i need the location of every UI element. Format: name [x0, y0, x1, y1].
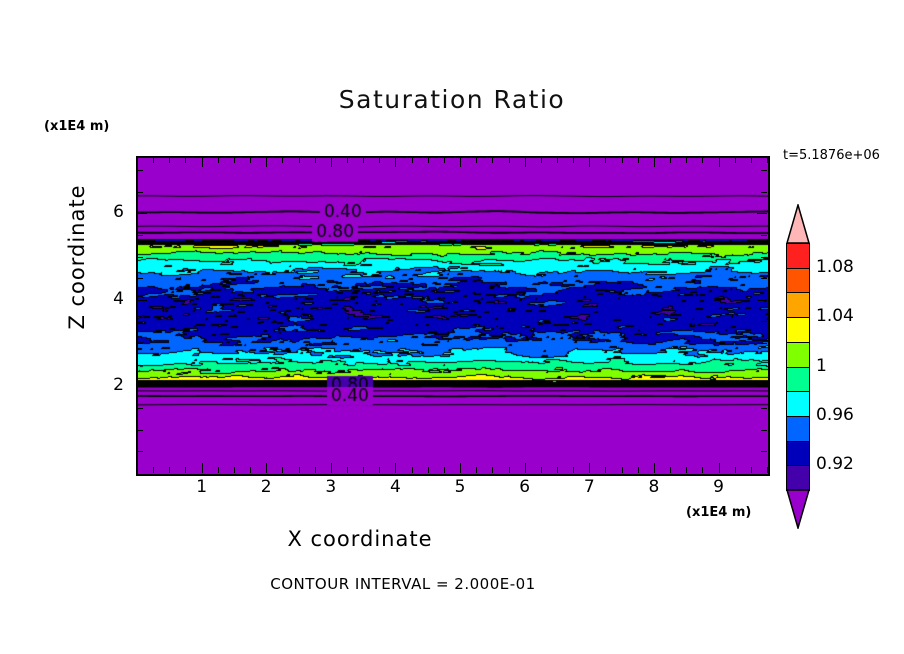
axis-tick	[153, 467, 154, 473]
axis-tick	[761, 170, 767, 171]
axis-tick	[767, 157, 768, 163]
axis-tick	[476, 467, 477, 473]
axis-tick	[234, 467, 235, 473]
axis-tick	[185, 467, 186, 473]
axis-tick	[331, 463, 332, 473]
axis-tick	[137, 213, 147, 214]
axis-tick	[638, 157, 639, 163]
axis-tick	[250, 157, 251, 163]
axis-tick	[541, 157, 542, 163]
axis-tick	[379, 157, 380, 163]
axis-tick	[363, 467, 364, 473]
axis-tick	[492, 467, 493, 473]
axis-tick	[299, 157, 300, 163]
axis-tick	[761, 278, 767, 279]
axis-tick	[169, 467, 170, 473]
colorbar-segment	[786, 243, 810, 269]
axis-tick	[557, 157, 558, 163]
axis-tick	[315, 157, 316, 163]
axis-tick	[137, 408, 143, 409]
colorbar-tick-label: 0.96	[816, 405, 854, 425]
axis-tick	[363, 157, 364, 163]
axis-tick	[492, 157, 493, 163]
contour-plot-area	[136, 156, 770, 476]
axis-tick	[670, 157, 671, 163]
axis-tick	[137, 235, 143, 236]
axis-tick	[757, 213, 767, 214]
axis-tick	[137, 257, 143, 258]
axis-tick	[622, 157, 623, 163]
axis-tick	[137, 170, 143, 171]
contour-interval-note: CONTOUR INTERVAL = 2.000E-01	[0, 575, 855, 593]
colorbar-segment	[786, 367, 810, 393]
axis-tick	[702, 467, 703, 473]
x-tick-label: 1	[187, 477, 217, 497]
axis-tick	[412, 157, 413, 163]
axis-tick	[476, 157, 477, 163]
axis-tick	[761, 257, 767, 258]
axis-tick	[767, 467, 768, 473]
x-tick-label: 8	[639, 477, 669, 497]
axis-tick	[719, 463, 720, 473]
axis-tick	[761, 343, 767, 344]
axis-tick	[395, 157, 396, 167]
axis-tick	[589, 157, 590, 167]
x-tick-label: 9	[704, 477, 734, 497]
colorbar-over-arrow	[786, 204, 810, 244]
axis-tick	[509, 467, 510, 473]
axis-tick	[137, 300, 147, 301]
axis-tick	[202, 463, 203, 473]
axis-tick	[757, 386, 767, 387]
axis-tick	[137, 278, 143, 279]
axis-tick	[444, 467, 445, 473]
axis-tick	[137, 192, 143, 193]
axis-tick	[761, 408, 767, 409]
x-tick-label: 3	[316, 477, 346, 497]
axis-tick	[622, 467, 623, 473]
y-tick-label: 6	[94, 202, 124, 222]
axis-tick	[525, 463, 526, 473]
colorbar-segment	[786, 465, 810, 491]
axis-tick	[638, 467, 639, 473]
axis-tick	[761, 321, 767, 322]
axis-tick	[761, 430, 767, 431]
axis-tick	[137, 343, 143, 344]
axis-tick	[299, 467, 300, 473]
axis-tick	[761, 451, 767, 452]
axis-tick	[654, 157, 655, 167]
axis-tick	[137, 430, 143, 431]
colorbar-segment	[786, 416, 810, 442]
axis-tick	[137, 451, 143, 452]
axis-tick	[751, 157, 752, 163]
axis-tick	[735, 467, 736, 473]
x-tick-label: 7	[574, 477, 604, 497]
axis-tick	[250, 467, 251, 473]
y-tick-label: 4	[94, 289, 124, 309]
axis-tick	[719, 157, 720, 167]
colorbar-segment	[786, 342, 810, 368]
axis-tick	[751, 467, 752, 473]
axis-tick	[761, 235, 767, 236]
colorbar-segment	[786, 292, 810, 318]
colorbar-tick-label: 1.04	[816, 306, 854, 326]
colorbar-segment	[786, 317, 810, 343]
axis-tick	[460, 157, 461, 167]
axis-tick	[169, 157, 170, 163]
axis-tick	[757, 300, 767, 301]
axis-tick	[234, 157, 235, 163]
axis-tick	[347, 157, 348, 163]
y-axis-unit-label: (x1E4 m)	[44, 119, 109, 134]
axis-tick	[137, 321, 143, 322]
axis-tick	[761, 365, 767, 366]
colorbar-under-arrow	[786, 489, 810, 529]
axis-tick	[412, 467, 413, 473]
axis-tick	[573, 157, 574, 163]
axis-tick	[605, 157, 606, 163]
axis-tick	[654, 463, 655, 473]
axis-tick	[428, 157, 429, 163]
x-axis-unit-label: (x1E4 m)	[686, 505, 751, 520]
axis-tick	[573, 467, 574, 473]
axis-tick	[525, 157, 526, 167]
page-title: Saturation Ratio	[0, 85, 904, 114]
axis-tick	[153, 157, 154, 163]
axis-tick	[347, 467, 348, 473]
colorbar-segment	[786, 268, 810, 294]
x-tick-label: 6	[510, 477, 540, 497]
axis-tick	[137, 386, 147, 387]
colorbar-tick-label: 0.92	[816, 454, 854, 474]
colorbar-segment	[786, 441, 810, 467]
colorbar-segment	[786, 391, 810, 417]
x-tick-label: 4	[380, 477, 410, 497]
axis-tick	[266, 463, 267, 473]
axis-tick	[185, 157, 186, 163]
axis-tick	[761, 192, 767, 193]
axis-tick	[395, 463, 396, 473]
axis-tick	[702, 157, 703, 163]
x-tick-label: 2	[251, 477, 281, 497]
axis-tick	[218, 157, 219, 163]
axis-tick	[670, 467, 671, 473]
colorbar	[786, 243, 810, 490]
axis-tick	[266, 157, 267, 167]
y-tick-label: 2	[94, 375, 124, 395]
axis-tick	[605, 467, 606, 473]
axis-tick	[444, 157, 445, 163]
axis-tick	[315, 467, 316, 473]
axis-tick	[137, 365, 143, 366]
axis-tick	[460, 463, 461, 473]
axis-tick	[686, 467, 687, 473]
axis-tick	[218, 467, 219, 473]
axis-tick	[509, 157, 510, 163]
axis-tick	[202, 157, 203, 167]
axis-tick	[282, 467, 283, 473]
saturation-field-heatmap	[138, 158, 768, 474]
colorbar-tick-label: 1.08	[816, 257, 854, 277]
axis-tick	[541, 467, 542, 473]
axis-tick	[735, 157, 736, 163]
colorbar-tick-label: 1	[816, 356, 827, 376]
axis-tick	[331, 157, 332, 167]
x-axis-title: X coordinate	[0, 527, 812, 551]
axis-tick	[282, 157, 283, 163]
x-tick-label: 5	[445, 477, 475, 497]
time-stamp-label: t=5.1876e+06	[783, 148, 880, 163]
axis-tick	[686, 157, 687, 163]
axis-tick	[589, 463, 590, 473]
axis-tick	[428, 467, 429, 473]
axis-tick	[557, 467, 558, 473]
axis-tick	[379, 467, 380, 473]
y-axis-title: Z coordinate	[65, 177, 89, 337]
figure-canvas: Saturation Ratio (x1E4 m) t=5.1876e+06 1…	[0, 0, 904, 654]
